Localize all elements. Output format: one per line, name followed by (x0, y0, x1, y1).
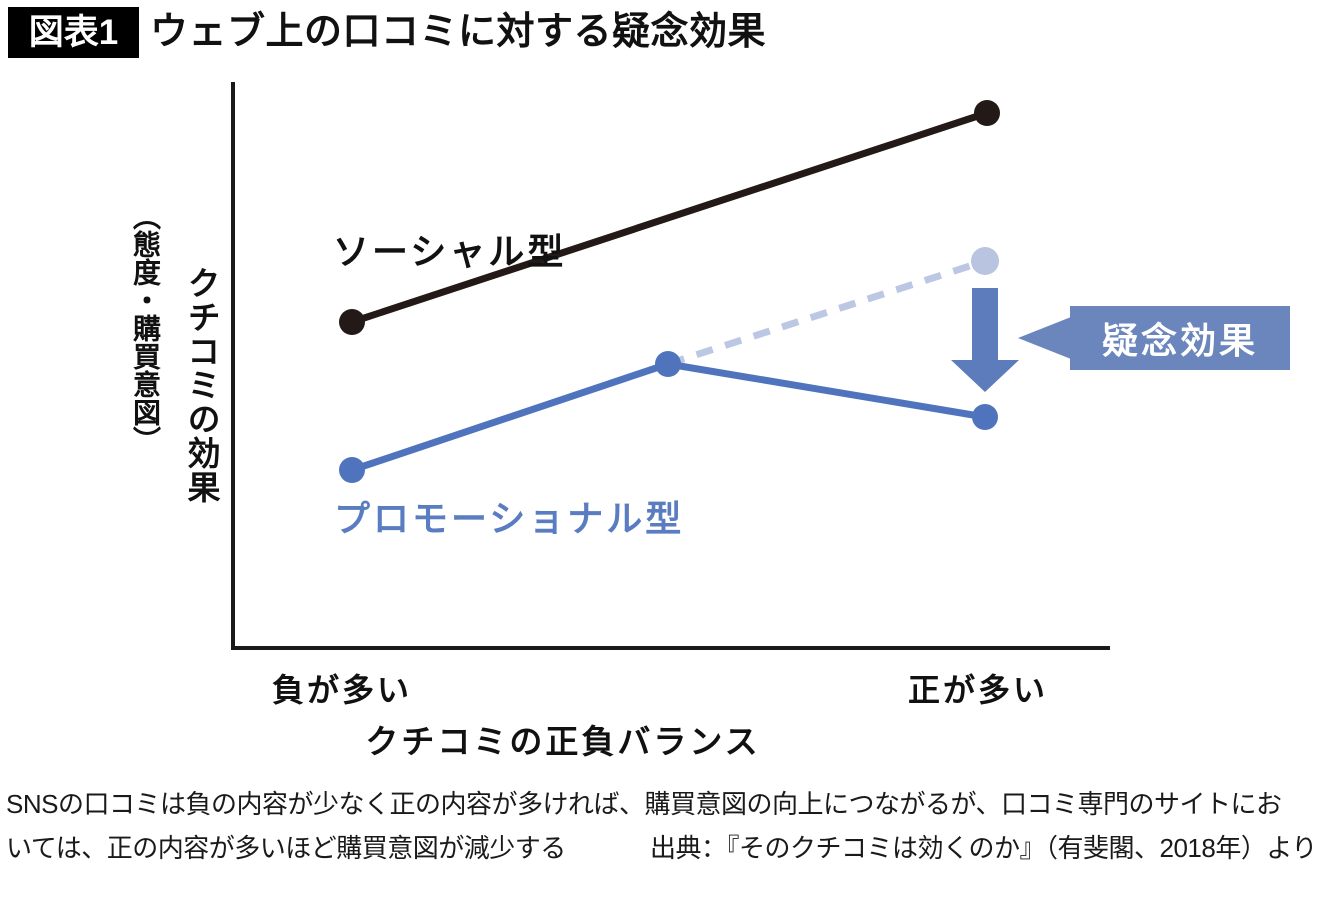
series-projection-dashed-line (668, 261, 985, 364)
series-promotional-line (352, 364, 985, 470)
page-title: ウェブ上の口コミに対する疑念効果 (150, 6, 766, 58)
caption-line-1: SNSの口コミは負の内容が少なく正の内容が多ければ、購買意図の向上につながるが、… (6, 782, 1281, 826)
callout-tail-icon (1018, 317, 1071, 359)
doubt-effect-callout: 疑念効果 (1070, 306, 1290, 370)
doubt-effect-arrow-icon (951, 288, 1019, 392)
series-label-social: ソーシャル型 (333, 223, 566, 275)
x-axis-title: クチコミの正負バランス (0, 715, 1126, 763)
series-label-promotional: プロモーショナル型 (334, 490, 684, 542)
data-point-social-right (974, 100, 1000, 126)
x-axis-tick-label-left: 負が多い (272, 665, 412, 711)
caption-source: 出典：『そのクチコミは効くのか』（有斐閣、2018年）より (650, 826, 1317, 870)
callout-label: 疑念効果 (1102, 312, 1258, 364)
caption-line-2: いては、正の内容が多いほど購買意図が減少する (6, 826, 566, 870)
data-point-projected-right (971, 247, 999, 275)
data-point-promotional-mid (655, 351, 681, 377)
data-point-social-left (339, 309, 365, 335)
x-axis-tick-label-right: 正が多い (908, 665, 1048, 711)
figure-number-badge: 図表1 (8, 7, 139, 58)
figure-header: 図表1 ウェブ上の口コミに対する疑念効果 (0, 0, 1340, 70)
y-axis-title: クチコミの効果 (163, 266, 221, 504)
data-point-promotional-right (972, 404, 998, 430)
data-point-promotional-left (339, 457, 365, 483)
y-axis-subtitle: （態度・購買意図） (112, 202, 162, 454)
series-social-line (352, 113, 987, 322)
line-chart: クチコミの効果 （態度・購買意図） 負が多い 正が多い クチコミの正負バランス … (0, 70, 1340, 770)
